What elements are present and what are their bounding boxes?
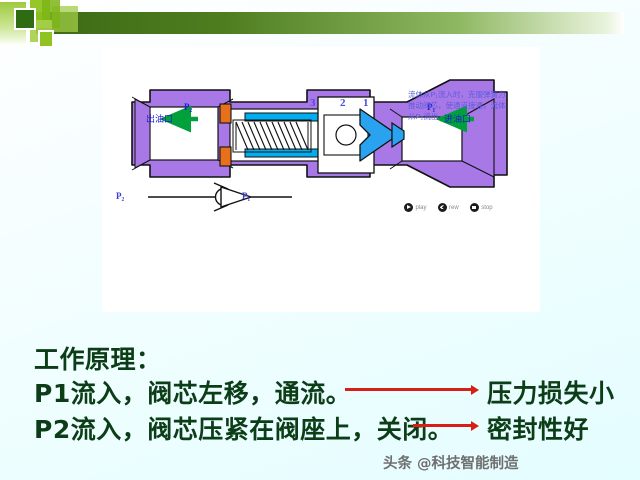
play-icon (404, 203, 413, 212)
rewind-icon (438, 203, 447, 212)
callout-number-1: 1 (363, 97, 369, 109)
valve-cross-section (102, 47, 540, 312)
stop-icon (470, 203, 479, 212)
port-name-outlet: 出油口 (146, 112, 173, 125)
rewind-button[interactable]: rew (438, 203, 459, 212)
port-label-p2: P₂ (184, 102, 192, 112)
callout-number-3: 3 (310, 97, 316, 109)
slide-canvas: 3 2 1 P₂ 出油口 P₁ 进油口 流体从P₁流入时，克服弹簧力推动阀芯，使… (0, 0, 640, 480)
check-valve-diagram: 3 2 1 P₂ 出油口 P₁ 进油口 流体从P₁流入时，克服弹簧力推动阀芯，使… (102, 47, 540, 312)
principle-text-block: 工作原理： P1流入，阀芯左移，通流。 P2流入，阀芯压紧在阀座上，关闭。 压力… (0, 318, 640, 480)
header-square-b (14, 8, 36, 30)
watermark: 头条 @科技智能制造 (383, 452, 519, 473)
callout-number-2: 2 (340, 97, 346, 109)
principle-heading: 工作原理： (34, 340, 162, 376)
stop-label: stop (481, 205, 492, 211)
stop-button[interactable]: stop (470, 203, 493, 212)
principle-line-1: P1流入，阀芯左移，通流。 (34, 374, 351, 410)
symbol-label-p2: P₂ (116, 191, 124, 201)
result-arrow-1 (345, 388, 473, 391)
play-button[interactable]: play (404, 203, 427, 212)
diagram-panel: 3 2 1 P₂ 出油口 P₁ 进油口 流体从P₁流入时，克服弹簧力推动阀芯，使… (102, 47, 540, 312)
play-label: play (416, 205, 427, 211)
rewind-label: rew (449, 205, 459, 211)
result-text-1: 压力损失小 (487, 374, 615, 410)
principle-line-2: P2流入，阀芯压紧在阀座上，关闭。 (34, 410, 453, 446)
flow-annotation-text: 流体从P₁流入时，克服弹簧力推动阀芯，使通道接通，流体从P₂流出 (408, 90, 510, 123)
result-arrow-2 (413, 424, 473, 427)
symbol-label-p1: P₁ (242, 191, 250, 201)
header-square-f (38, 30, 54, 48)
animation-controls[interactable]: play rew stop (404, 203, 493, 212)
header-green-bar (36, 12, 624, 34)
result-text-2: 密封性好 (487, 410, 589, 446)
header-decoration (0, 0, 640, 52)
